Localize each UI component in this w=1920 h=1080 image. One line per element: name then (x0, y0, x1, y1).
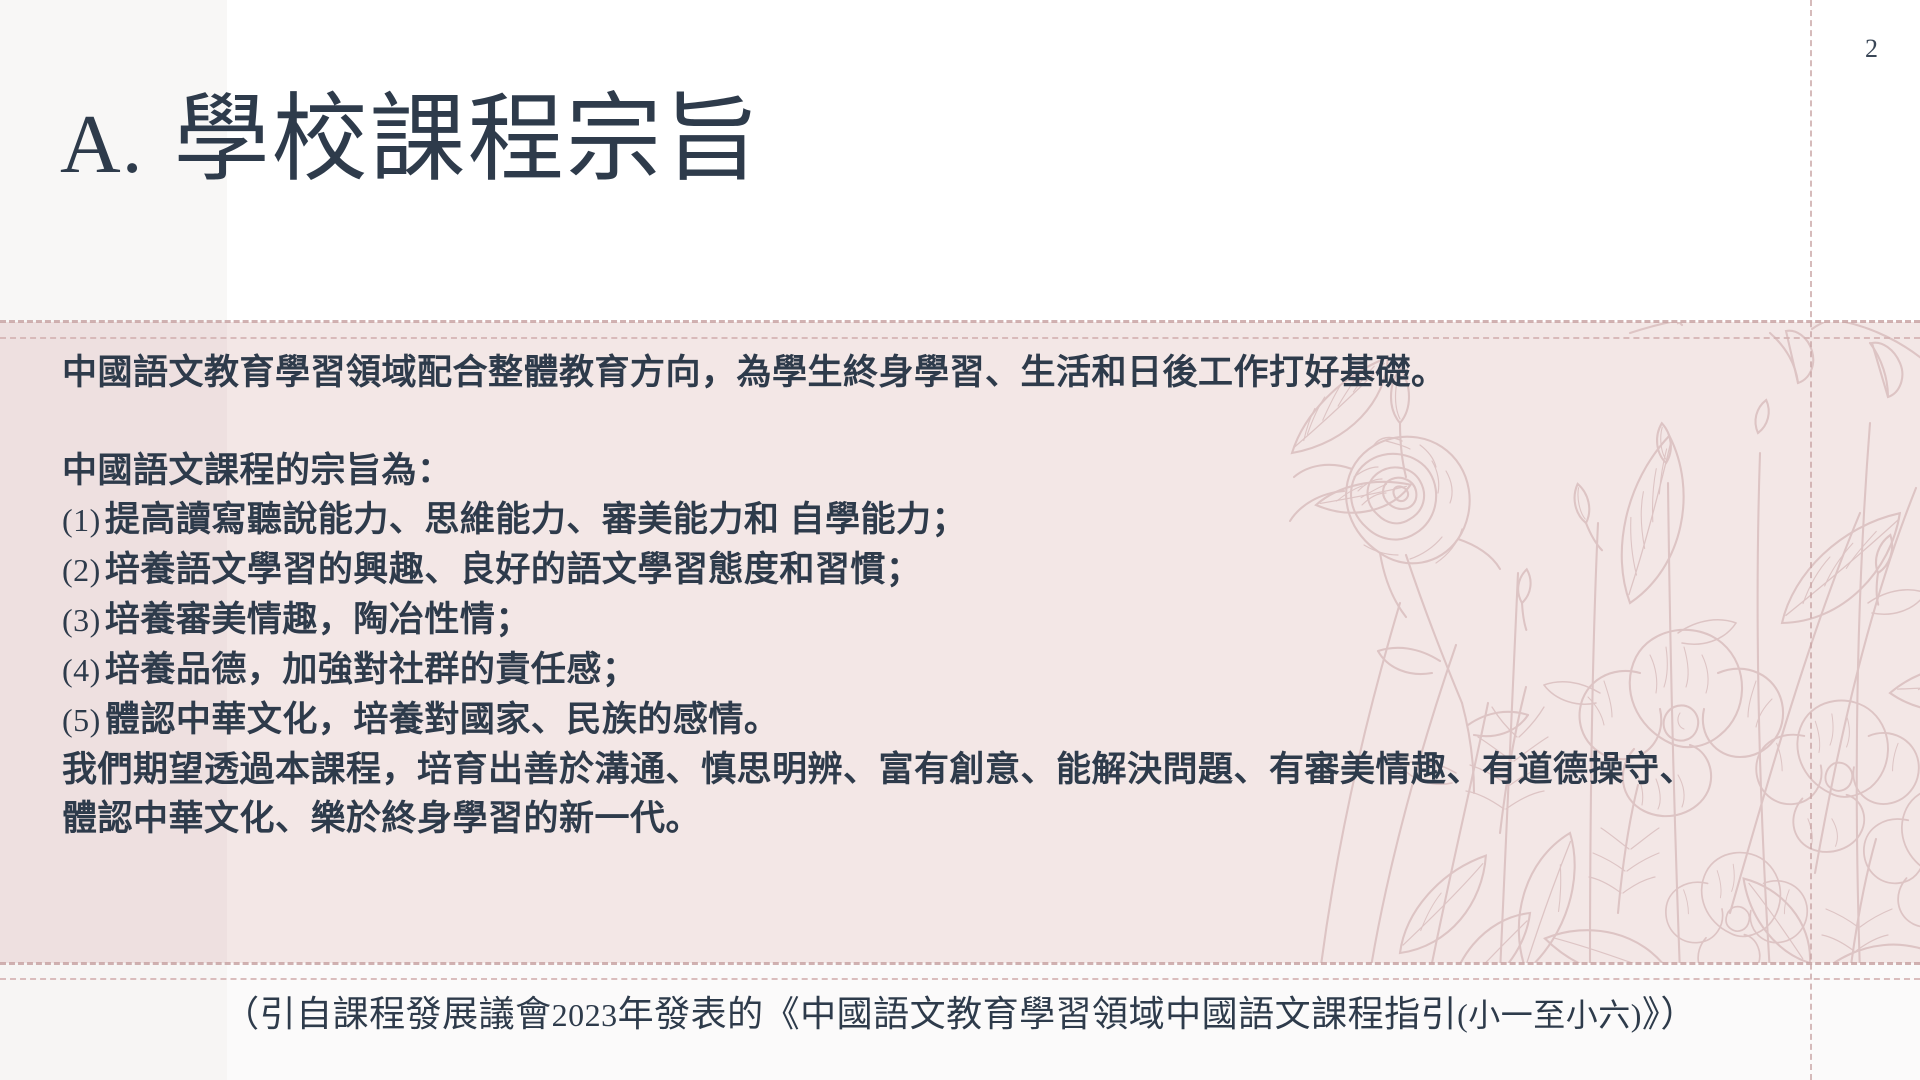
body-content: 中國語文教育學習領域配合整體教育方向，為學生終身學習、生活和日後工作打好基礎。 … (62, 348, 1920, 843)
list-item-text: 體認中華文化，培養對國家、民族的感情。 (105, 700, 780, 739)
source-citation: （引自課程發展議會2023年發表的《中國語文教育學習領域中國語文課程指引(小一至… (0, 985, 1920, 1037)
list-item-text: 培養語文學習的興趣、良好的語文學習態度和習慣； (105, 550, 922, 589)
list-item: (1)提高讀寫聽說能力、思維能力、審美能力和 自學能力； (62, 495, 1920, 545)
divider-top-outer (0, 320, 1920, 323)
list-item-marker: (4) (62, 652, 101, 688)
citation-prefix: （引自課程發展議會 (223, 993, 552, 1034)
list-item: (5)體認中華文化，培養對國家、民族的感情。 (62, 695, 1920, 745)
body-intro: 中國語文教育學習領域配合整體教育方向，為學生終身學習、生活和日後工作打好基礎。 (62, 348, 1920, 397)
citation-grade-range: (小一至小六) (1457, 997, 1642, 1033)
body-spacer (62, 397, 1920, 446)
list-item-text: 提高讀寫聽說能力、思維能力、審美能力和 自學能力； (105, 500, 967, 539)
list-item: (2)培養語文學習的興趣、良好的語文學習態度和習慣； (62, 545, 1920, 595)
citation-middle: 年發表的《中國語文教育學習領域中國語文課程指引 (618, 993, 1458, 1034)
divider-bottom-inner (0, 978, 1920, 980)
slide-canvas: 2 A. 學校課程宗旨 中國語文教育學習領域配合整體教育方向，為學生終身學習、生… (0, 0, 1920, 1080)
citation-year: 2023 (552, 997, 618, 1033)
divider-top-inner (0, 337, 1920, 339)
list-item-text: 培養審美情趣，陶冶性情； (105, 600, 531, 639)
body-lead: 中國語文課程的宗旨為： (62, 446, 1920, 495)
list-item-marker: (1) (62, 502, 101, 538)
page-number: 2 (1865, 34, 1878, 64)
citation-suffix: 》） (1642, 993, 1697, 1034)
body-closing-line-1: 我們期望透過本課程，培育出善於溝通、慎思明辨、富有創意、能解決問題、有審美情趣、… (62, 745, 1920, 794)
list-item-marker: (2) (62, 552, 101, 588)
divider-bottom-outer (0, 962, 1920, 965)
page-title-marker: A. (60, 96, 144, 193)
list-item: (4)培養品德，加強對社群的責任感； (62, 645, 1920, 695)
list-item: (3)培養審美情趣，陶冶性情； (62, 595, 1920, 645)
list-item-text: 培養品德，加強對社群的責任感； (105, 650, 638, 689)
body-closing-line-2: 體認中華文化、樂於終身學習的新一代。 (62, 794, 1920, 843)
list-item-marker: (3) (62, 602, 101, 638)
page-title: A. 學校課程宗旨 (60, 92, 762, 193)
page-title-text: 學校課程宗旨 (174, 92, 762, 188)
list-item-marker: (5) (62, 702, 101, 738)
